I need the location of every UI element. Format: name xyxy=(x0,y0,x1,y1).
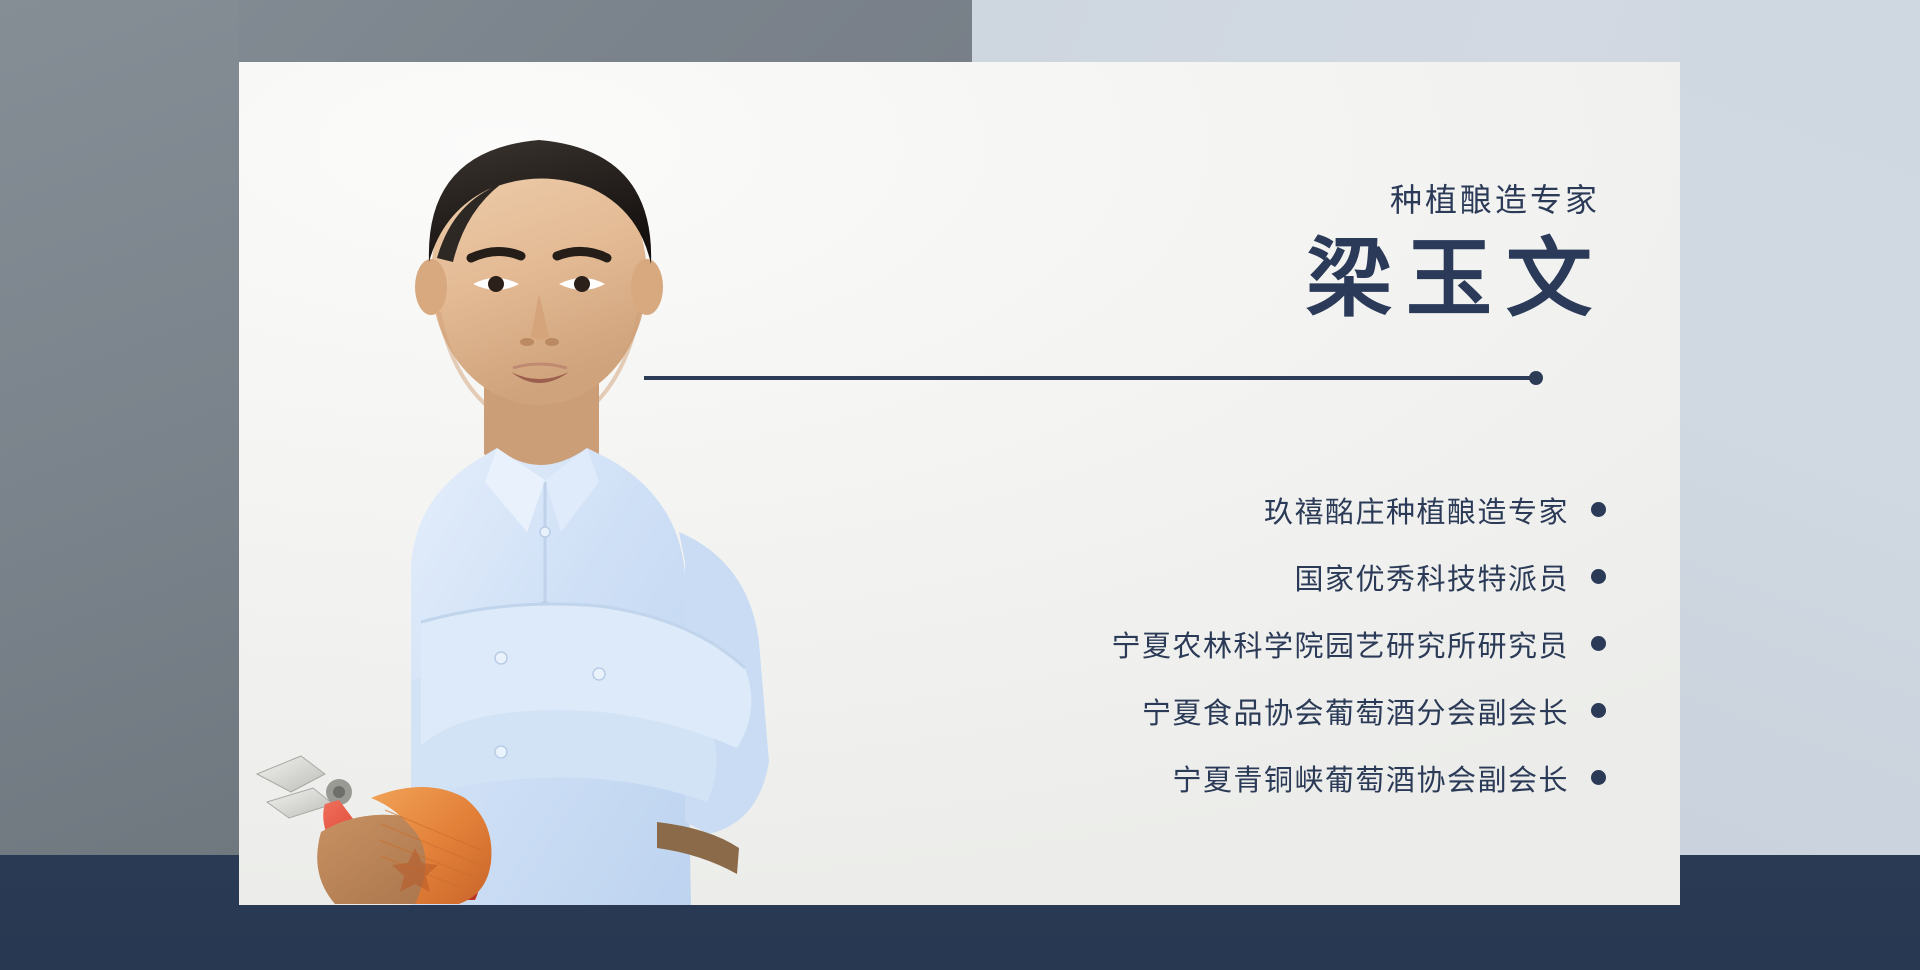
bullet-dot-icon xyxy=(1591,502,1606,517)
profile-text-column: 种植酿造专家 梁玉文 玖禧酩庄种植酿造专家 国家优秀科技特派员 宁夏农林科学院园… xyxy=(939,62,1680,905)
divider-end-dot-icon xyxy=(1529,371,1543,385)
profile-subtitle: 种植酿造专家 xyxy=(1390,184,1600,216)
profile-name: 梁玉文 xyxy=(1306,234,1606,324)
credentials-list: 玖禧酩庄种植酿造专家 国家优秀科技特派员 宁夏农林科学院园艺研究所研究员 宁夏食… xyxy=(1111,476,1606,811)
credential-label: 宁夏青铜峡葡萄酒协会副会长 xyxy=(1172,757,1569,799)
credential-label: 宁夏食品协会葡萄酒分会副会长 xyxy=(1142,690,1569,732)
background-block-lightblue-right xyxy=(1680,0,1920,855)
bullet-dot-icon xyxy=(1591,703,1606,718)
profile-card: 种植酿造专家 梁玉文 玖禧酩庄种植酿造专家 国家优秀科技特派员 宁夏农林科学院园… xyxy=(239,62,1680,905)
credential-label: 宁夏农林科学院园艺研究所研究员 xyxy=(1111,623,1569,665)
bullet-dot-icon xyxy=(1591,770,1606,785)
list-item: 国家优秀科技特派员 xyxy=(1111,543,1606,610)
list-item: 宁夏农林科学院园艺研究所研究员 xyxy=(1111,610,1606,677)
bullet-dot-icon xyxy=(1591,569,1606,584)
credential-label: 国家优秀科技特派员 xyxy=(1294,556,1569,598)
background-block-grey-left xyxy=(0,0,239,855)
credential-label: 玖禧酩庄种植酿造专家 xyxy=(1264,489,1569,531)
bullet-dot-icon xyxy=(1591,636,1606,651)
horizontal-divider xyxy=(644,376,1534,380)
list-item: 玖禧酩庄种植酿造专家 xyxy=(1111,476,1606,543)
list-item: 宁夏青铜峡葡萄酒协会副会长 xyxy=(1111,744,1606,811)
poster-canvas: 种植酿造专家 梁玉文 玖禧酩庄种植酿造专家 国家优秀科技特派员 宁夏农林科学院园… xyxy=(0,0,1920,970)
list-item: 宁夏食品协会葡萄酒分会副会长 xyxy=(1111,677,1606,744)
portrait-photo xyxy=(239,62,859,905)
